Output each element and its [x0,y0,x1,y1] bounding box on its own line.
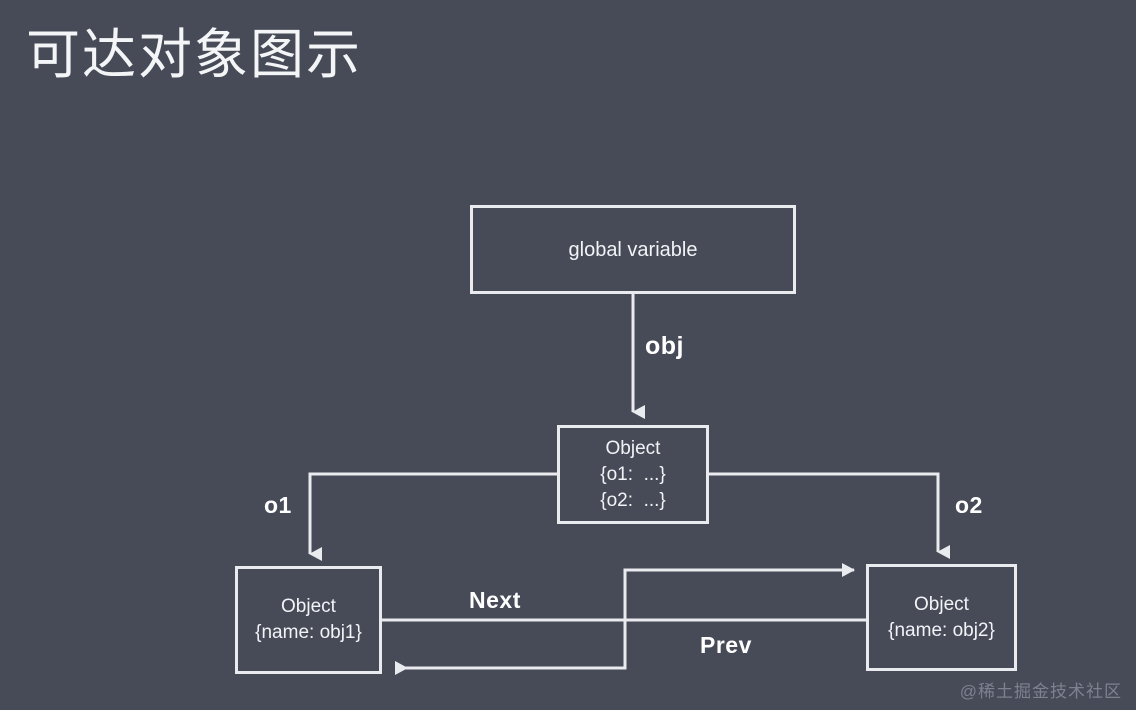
node-root-object-line-0: Object [606,436,661,462]
node-root-object[interactable]: Object {o1: ...} {o2: ...} [557,425,709,524]
node-object-obj2-line-1: {name: obj2} [888,618,995,644]
node-root-object-line-2: {o2: ...} [600,488,666,514]
node-object-obj1-line-1: {name: obj1} [255,620,362,646]
connector-obj1-next-obj2 [382,570,854,620]
edge-label-obj: obj [645,332,684,361]
edge-label-o2: o2 [955,492,983,519]
node-global-variable[interactable]: global variable [470,205,796,294]
node-root-object-line-1: {o1: ...} [600,462,666,488]
connector-root-to-obj1 [310,474,557,554]
connector-obj2-prev-obj1 [396,620,866,668]
node-object-obj1-line-0: Object [281,594,336,620]
connector-root-to-obj2 [709,474,938,552]
node-object-obj1[interactable]: Object {name: obj1} [235,566,382,674]
node-object-obj2[interactable]: Object {name: obj2} [866,564,1017,671]
edge-label-prev: Prev [700,632,752,659]
node-object-obj2-line-0: Object [914,592,969,618]
node-global-variable-line-0: global variable [569,237,698,263]
edge-label-o1: o1 [264,492,292,519]
slide-canvas: 可达对象图示 [0,0,1136,710]
edge-label-next: Next [469,587,521,614]
watermark: @稀土掘金技术社区 [960,677,1122,702]
